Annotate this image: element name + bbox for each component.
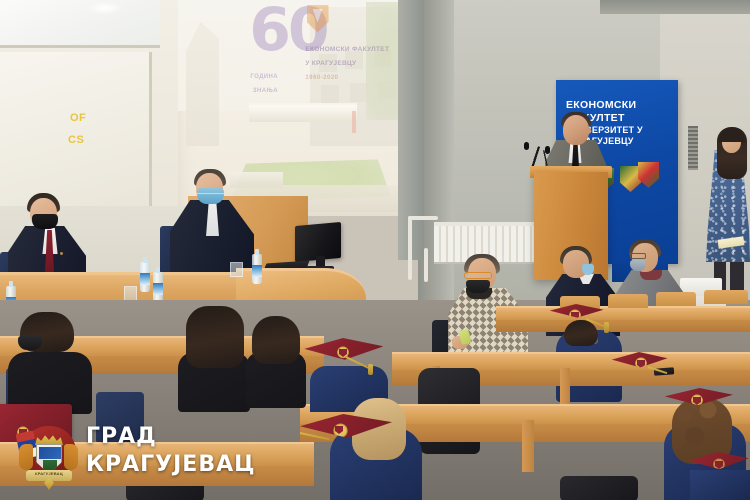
cap-tassel-knot — [604, 322, 609, 333]
water-bottle — [140, 262, 150, 292]
projection-institution-line2: У КРАГУЈЕВЦУ — [305, 60, 356, 67]
city-coat-of-arms-icon: КРАГУЈЕВАЦ — [18, 412, 80, 490]
drinking-glass — [230, 262, 243, 277]
audience-houndstooth-face-mask — [466, 280, 490, 293]
radiator-pipe-vertical — [408, 216, 412, 280]
watermark-line-1: ГРАД — [86, 426, 157, 448]
seated-mid-face-mask — [197, 188, 224, 204]
projection-years: 1960-2020 — [305, 75, 338, 81]
water-bottle — [252, 254, 262, 284]
banner-english-fragment-2: CS — [68, 134, 84, 146]
bench-seat-back — [704, 290, 748, 304]
watermark: КРАГУЈЕВАЦ ГРАД КРАГУЈЕВАЦ — [18, 412, 214, 490]
seated-left-lapel-pin — [60, 252, 63, 255]
bench-seat-back — [608, 294, 648, 308]
seated-left-face-mask — [32, 214, 58, 229]
ceremony-photograph: 60 ЕКОНОМСКИ ФАКУЛТЕТ У КРАГУЈЕВЦУ 1960-… — [0, 0, 750, 500]
drinking-glass — [124, 286, 137, 301]
whiteboard-glare — [88, 2, 122, 14]
banner-english-fragment-1: OF — [70, 112, 86, 124]
projection-flag — [352, 111, 356, 133]
bench-seat-back — [656, 292, 696, 306]
projection-institution-line1: ЕКОНОМСКИ ФАКУЛТЕТ — [305, 46, 389, 53]
projection-sub-line2: ЗНАЊА — [253, 88, 278, 94]
graduate-gown — [690, 470, 750, 500]
whiteboard-upper — [0, 0, 160, 48]
microphone-head-2 — [545, 146, 550, 154]
coa-ribbon-text: КРАГУЈЕВАЦ — [26, 471, 72, 476]
bench-support — [522, 420, 534, 472]
coa-lion-left-icon — [19, 444, 33, 470]
water-bottle — [153, 272, 163, 302]
projection-low-wall — [230, 172, 284, 187]
audience-houndstooth-glasses-icon — [464, 272, 492, 279]
whiteboard-lower — [0, 52, 152, 212]
microphone-head-1 — [524, 142, 529, 150]
bench-row-front — [496, 320, 750, 332]
projection-sub-line1: ГОДИНА — [250, 74, 278, 80]
speaker-ear — [586, 127, 591, 134]
seated-woman-hair — [252, 316, 300, 364]
cap-tassel-knot — [368, 364, 373, 375]
wall-vent-icon — [688, 126, 698, 170]
audience-grey-glasses-icon — [630, 253, 646, 259]
ceiling-strip — [600, 0, 750, 14]
watermark-line-2: КРАГУЈЕВАЦ — [86, 454, 256, 476]
radiator-pipe-horizontal — [408, 216, 438, 220]
radiator-pipe-drop — [424, 248, 428, 282]
projection-entrance-canopy — [249, 103, 356, 123]
coa-lion-right-icon — [64, 444, 78, 470]
banner-line-1: ЕКОНОМСКИ — [566, 99, 636, 111]
seated-woman-hair — [186, 306, 244, 368]
foreground-man-face-mask — [18, 336, 42, 350]
bag-on-bench — [560, 476, 638, 500]
